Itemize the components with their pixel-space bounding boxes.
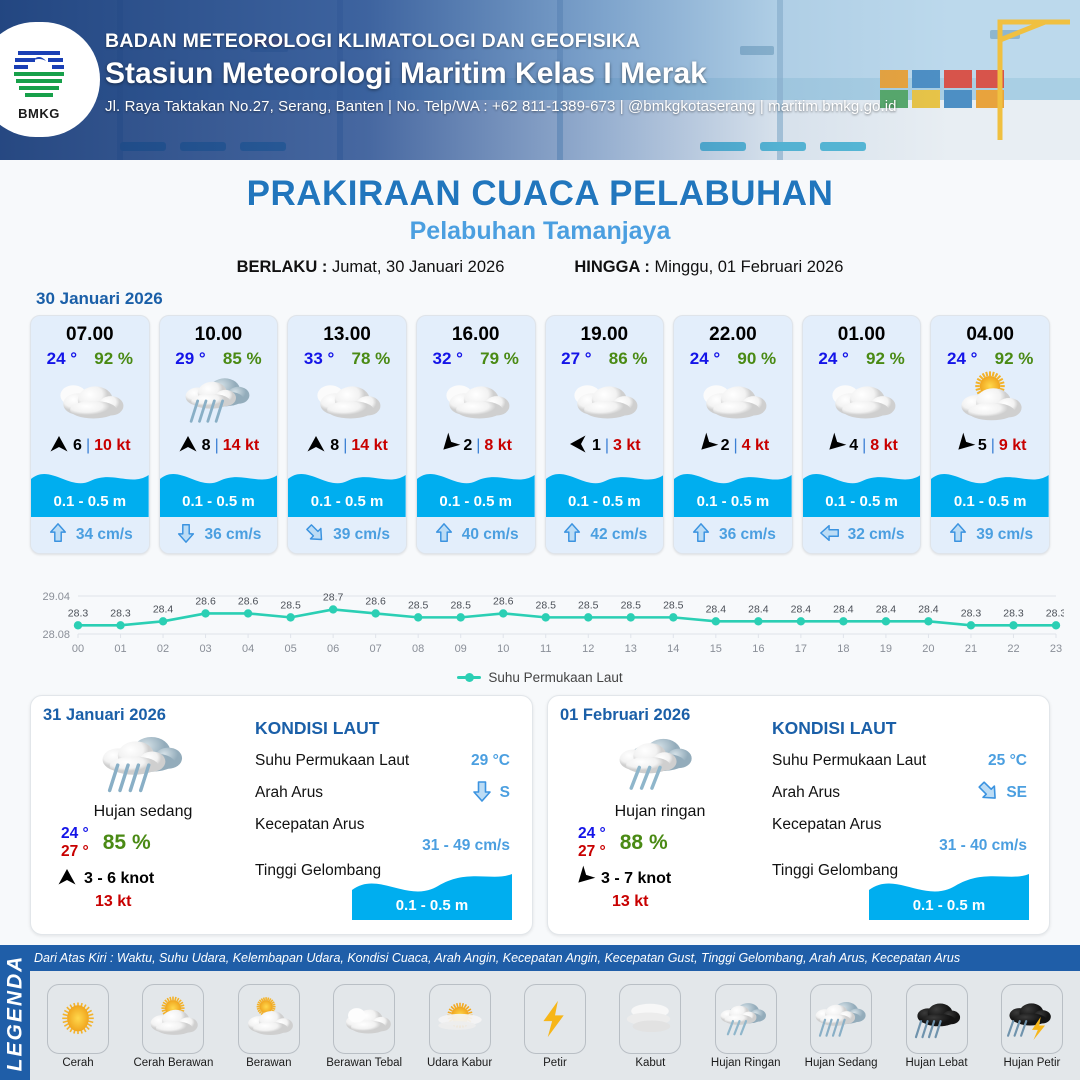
- daily-panel: 31 Januari 2026 Hujan sedang 24 °: [30, 695, 533, 935]
- sea-conditions-title: KONDISI LAUT: [772, 718, 1037, 739]
- svg-text:28.5: 28.5: [280, 599, 301, 611]
- card-current: 42 cm/s: [546, 517, 664, 553]
- daily-wind: 3 - 7 knot: [574, 867, 760, 892]
- legend-weather-icon: [333, 984, 395, 1054]
- svg-text:04: 04: [242, 643, 254, 655]
- sst-value: 25 °C: [988, 752, 1027, 770]
- page-subtitle: Pelabuhan Tamanjaya: [0, 217, 1080, 246]
- svg-text:07: 07: [370, 643, 382, 655]
- card-current: 36 cm/s: [160, 517, 278, 553]
- svg-text:28.3: 28.3: [961, 607, 982, 619]
- station-name: Stasiun Meteorologi Maritim Kelas I Mera…: [105, 57, 897, 91]
- wind-separator: |: [605, 437, 609, 455]
- daily-panel: 01 Februari 2026 Hujan ringan 24 °: [547, 695, 1050, 935]
- card-humidity: 90 %: [737, 349, 776, 369]
- legend-main: Dari Atas Kiri : Waktu, Suhu Udara, Kele…: [30, 945, 1080, 1080]
- current-direction-icon: [561, 522, 583, 549]
- current-direction-icon: [819, 522, 841, 549]
- card-time: 10.00: [160, 316, 278, 346]
- daily-date: 01 Februari 2026: [560, 706, 760, 725]
- svg-text:10: 10: [497, 643, 509, 655]
- legend-item-label: Berawan: [246, 1057, 291, 1069]
- page-title: PRAKIRAAN CUACA PELABUHAN: [0, 174, 1080, 214]
- card-wind-speed: 9 kt: [999, 437, 1027, 455]
- svg-text:22: 22: [1007, 643, 1019, 655]
- chart-legend: Suhu Permukaan Laut: [16, 670, 1064, 685]
- card-current-speed: 39 cm/s: [976, 526, 1033, 544]
- svg-text:14: 14: [667, 643, 679, 655]
- valid-to: HINGGA : Minggu, 01 Februari 2026: [574, 258, 843, 277]
- svg-text:28.4: 28.4: [833, 603, 854, 615]
- current-speed-value: 31 - 40 cm/s: [766, 837, 1037, 855]
- card-wave-height: 0.1 - 0.5 m: [931, 493, 1049, 510]
- card-wind-degree: 8: [202, 437, 211, 455]
- sst-chart-plot: 29.0428.0828.30028.30128.40228.60328.604…: [16, 568, 1064, 668]
- daily-wind: 3 - 6 knot: [57, 867, 243, 892]
- daily-wave-graphic: 0.1 - 0.5 m: [352, 864, 512, 920]
- contact-info: Jl. Raya Taktakan No.27, Serang, Banten …: [105, 98, 897, 115]
- hourly-card: 07.00 24 ° 92 % 6 | 10 kt: [30, 315, 150, 554]
- svg-text:21: 21: [965, 643, 977, 655]
- sea-conditions-title: KONDISI LAUT: [255, 718, 520, 739]
- card-wind-speed: 14 kt: [351, 437, 387, 455]
- current-dir-label: Arah Arus: [772, 784, 840, 802]
- valid-from-value: Jumat, 30 Januari 2026: [332, 258, 504, 276]
- legend-item: Kabut: [608, 984, 692, 1069]
- card-wind: 2 | 4 kt: [674, 431, 792, 461]
- card-weather-icon: [31, 369, 149, 431]
- card-weather-icon: [674, 369, 792, 431]
- card-wind-degree: 5: [978, 437, 987, 455]
- valid-to-label: HINGGA :: [574, 258, 649, 276]
- current-dir-row: Arah Arus S: [249, 777, 520, 809]
- daily-temps: 24 ° 27 ° 85 %: [61, 825, 243, 861]
- svg-text:28.7: 28.7: [323, 591, 344, 603]
- legend-item: Berawan: [227, 984, 311, 1069]
- card-current-speed: 34 cm/s: [76, 526, 133, 544]
- card-time: 01.00: [803, 316, 921, 346]
- svg-text:28.6: 28.6: [238, 595, 259, 607]
- card-temp-humidity: 33 ° 78 %: [288, 346, 406, 369]
- card-humidity: 92 %: [866, 349, 905, 369]
- sst-row: Suhu Permukaan Laut 29 °C: [249, 745, 520, 777]
- card-temperature: 24 °: [947, 349, 977, 369]
- card-humidity: 92 %: [94, 349, 133, 369]
- legend-item: Hujan Lebat: [895, 984, 979, 1069]
- svg-text:28.08: 28.08: [42, 629, 70, 641]
- daily-temp-col: 24 ° 27 °: [578, 825, 606, 861]
- card-wind: 8 | 14 kt: [160, 431, 278, 461]
- card-temp-humidity: 29 ° 85 %: [160, 346, 278, 369]
- card-wind-degree: 2: [463, 437, 472, 455]
- legend-weather-icon: [1001, 984, 1063, 1054]
- card-wave: 0.1 - 0.5 m: [674, 461, 792, 517]
- card-current: 32 cm/s: [803, 517, 921, 553]
- svg-text:12: 12: [582, 643, 594, 655]
- card-current: 40 cm/s: [417, 517, 535, 553]
- card-weather-icon: [546, 369, 664, 431]
- card-weather-icon: [417, 369, 535, 431]
- daily-temp-max: 27 °: [61, 843, 89, 861]
- hourly-card: 22.00 24 ° 90 % 2 | 4 kt: [673, 315, 793, 554]
- card-wave-height: 0.1 - 0.5 m: [803, 493, 921, 510]
- card-wind-degree: 1: [592, 437, 601, 455]
- card-wind-degree: 8: [330, 437, 339, 455]
- chart-legend-label: Suhu Permukaan Laut: [488, 670, 622, 685]
- chart-legend-marker-icon: [457, 676, 481, 679]
- svg-text:06: 06: [327, 643, 339, 655]
- wind-separator: |: [343, 437, 347, 455]
- sst-label: Suhu Permukaan Laut: [772, 752, 926, 770]
- daily-temp-col: 24 ° 27 °: [61, 825, 89, 861]
- svg-text:03: 03: [199, 643, 211, 655]
- daily-sea-conditions: KONDISI LAUT Suhu Permukaan Laut 25 °C A…: [760, 706, 1037, 924]
- hourly-date-label: 30 Januari 2026: [36, 289, 1080, 309]
- card-humidity: 86 %: [609, 349, 648, 369]
- card-wind-speed: 10 kt: [94, 437, 130, 455]
- current-dir-value-group: S: [470, 779, 510, 808]
- card-current: 39 cm/s: [288, 517, 406, 553]
- valid-to-value: Minggu, 01 Februari 2026: [654, 258, 843, 276]
- wind-direction-icon: [568, 434, 588, 459]
- card-wave-height: 0.1 - 0.5 m: [31, 493, 149, 510]
- page-header: BMKG BADAN METEOROLOGI KLIMATOLOGI DAN G…: [0, 0, 1080, 160]
- legend-item-label: Hujan Sedang: [805, 1057, 878, 1069]
- svg-text:28.4: 28.4: [706, 603, 727, 615]
- svg-text:09: 09: [455, 643, 467, 655]
- card-time: 19.00: [546, 316, 664, 346]
- legend-item: Udara Kabur: [418, 984, 502, 1069]
- daily-condition: Hujan ringan: [560, 803, 760, 821]
- svg-text:28.4: 28.4: [748, 603, 769, 615]
- legend-side-text: LEGENDA: [3, 954, 27, 1071]
- card-current: 36 cm/s: [674, 517, 792, 553]
- svg-text:28.5: 28.5: [536, 599, 557, 611]
- sst-label: Suhu Permukaan Laut: [255, 752, 409, 770]
- card-weather-icon: [803, 369, 921, 431]
- card-temp-humidity: 27 ° 86 %: [546, 346, 664, 369]
- wind-direction-icon: [954, 434, 974, 459]
- wind-direction-icon: [439, 434, 459, 459]
- wind-separator: |: [734, 437, 738, 455]
- legend-item: Hujan Sedang: [799, 984, 883, 1069]
- card-wind: 8 | 14 kt: [288, 431, 406, 461]
- legend-weather-icon: [47, 984, 109, 1054]
- card-wave: 0.1 - 0.5 m: [803, 461, 921, 517]
- card-current: 39 cm/s: [931, 517, 1049, 553]
- legend-item-label: Petir: [543, 1057, 567, 1069]
- daily-temp-min: 24 °: [578, 825, 606, 843]
- daily-gust: 13 kt: [612, 893, 760, 911]
- card-wind-speed: 4 kt: [742, 437, 770, 455]
- current-direction-icon: [690, 522, 712, 549]
- card-humidity: 79 %: [480, 349, 519, 369]
- card-time: 13.00: [288, 316, 406, 346]
- card-wave: 0.1 - 0.5 m: [31, 461, 149, 517]
- card-wind-degree: 4: [849, 437, 858, 455]
- svg-text:28.3: 28.3: [68, 607, 89, 619]
- hourly-card: 10.00 29 ° 85 % 8 | 1: [159, 315, 279, 554]
- legend-weather-icon: [810, 984, 872, 1054]
- legend-item: Hujan Petir: [990, 984, 1074, 1069]
- daily-condition: Hujan sedang: [43, 803, 243, 821]
- card-current-speed: 32 cm/s: [848, 526, 905, 544]
- card-time: 04.00: [931, 316, 1049, 346]
- agency-name: BADAN METEOROLOGI KLIMATOLOGI DAN GEOFIS…: [105, 30, 897, 53]
- legend-section: LEGENDA Dari Atas Kiri : Waktu, Suhu Uda…: [0, 945, 1080, 1080]
- daily-temp-min: 24 °: [61, 825, 89, 843]
- card-temperature: 27 °: [561, 349, 591, 369]
- current-speed-label: Kecepatan Arus: [255, 816, 364, 834]
- daily-forecast-panels: 31 Januari 2026 Hujan sedang 24 °: [0, 685, 1080, 935]
- svg-text:28.6: 28.6: [493, 595, 514, 607]
- wind-direction-icon: [825, 434, 845, 459]
- card-wind: 6 | 10 kt: [31, 431, 149, 461]
- legend-side-label: LEGENDA: [0, 945, 30, 1080]
- card-temperature: 24 °: [690, 349, 720, 369]
- svg-text:19: 19: [880, 643, 892, 655]
- card-wave: 0.1 - 0.5 m: [417, 461, 535, 517]
- current-dir-value: SE: [1006, 784, 1027, 802]
- svg-text:28.5: 28.5: [578, 599, 599, 611]
- daily-wave-graphic: 0.1 - 0.5 m: [869, 864, 1029, 920]
- svg-text:16: 16: [752, 643, 764, 655]
- legend-weather-icon: [524, 984, 586, 1054]
- card-temperature: 24 °: [818, 349, 848, 369]
- sst-row: Suhu Permukaan Laut 25 °C: [766, 745, 1037, 777]
- current-speed-value: 31 - 49 cm/s: [249, 837, 520, 855]
- svg-text:00: 00: [72, 643, 84, 655]
- svg-text:28.5: 28.5: [408, 599, 429, 611]
- wind-direction-icon: [49, 434, 69, 459]
- legend-weather-icon: [715, 984, 777, 1054]
- svg-text:28.4: 28.4: [153, 603, 174, 615]
- wind-direction-icon: [178, 434, 198, 459]
- hourly-forecast-cards: 07.00 24 ° 92 % 6 | 10 kt: [0, 315, 1080, 554]
- legend-items: Cerah Cerah Berawan: [30, 971, 1080, 1080]
- current-direction-icon: [47, 522, 69, 549]
- daily-current-direction-icon: [470, 779, 494, 808]
- daily-temps: 24 ° 27 ° 88 %: [578, 825, 760, 861]
- legend-weather-icon: [906, 984, 968, 1054]
- card-time: 07.00: [31, 316, 149, 346]
- card-current-speed: 39 cm/s: [333, 526, 390, 544]
- wind-direction-icon: [697, 434, 717, 459]
- card-wave-height: 0.1 - 0.5 m: [417, 493, 535, 510]
- hourly-card: 13.00 33 ° 78 % 8 | 14 kt: [287, 315, 407, 554]
- svg-text:28.5: 28.5: [663, 599, 684, 611]
- daily-wave-value: 0.1 - 0.5 m: [352, 897, 512, 914]
- svg-text:28.3: 28.3: [1046, 607, 1064, 619]
- legend-item-label: Hujan Ringan: [711, 1057, 781, 1069]
- svg-text:28.5: 28.5: [621, 599, 642, 611]
- current-direction-icon: [433, 522, 455, 549]
- card-time: 16.00: [417, 316, 535, 346]
- current-direction-icon: [947, 522, 969, 549]
- svg-text:28.4: 28.4: [918, 603, 939, 615]
- card-current-speed: 40 cm/s: [462, 526, 519, 544]
- card-temperature: 29 °: [175, 349, 205, 369]
- svg-text:28.4: 28.4: [876, 603, 897, 615]
- card-temp-humidity: 24 ° 92 %: [31, 346, 149, 369]
- header-text-block: BADAN METEOROLOGI KLIMATOLOGI DAN GEOFIS…: [105, 30, 897, 115]
- daily-left: 31 Januari 2026 Hujan sedang 24 °: [43, 706, 243, 924]
- legend-item-label: Cerah Berawan: [133, 1057, 213, 1069]
- svg-text:08: 08: [412, 643, 424, 655]
- card-wave: 0.1 - 0.5 m: [546, 461, 664, 517]
- card-wind-speed: 8 kt: [870, 437, 898, 455]
- card-wave: 0.1 - 0.5 m: [288, 461, 406, 517]
- card-wind-speed: 3 kt: [613, 437, 641, 455]
- svg-text:05: 05: [284, 643, 296, 655]
- card-temp-humidity: 24 ° 92 %: [931, 346, 1049, 369]
- legend-item: Cerah: [36, 984, 120, 1069]
- daily-wind-range: 3 - 6 knot: [84, 870, 154, 888]
- legend-item-label: Cerah: [62, 1057, 93, 1069]
- title-section: PRAKIRAAN CUACA PELABUHAN Pelabuhan Tama…: [0, 160, 1080, 277]
- card-wind: 4 | 8 kt: [803, 431, 921, 461]
- daily-date: 31 Januari 2026: [43, 706, 243, 725]
- legend-item: Berawan Tebal: [322, 984, 406, 1069]
- sst-value: 29 °C: [471, 752, 510, 770]
- bmkg-logo-icon: [8, 39, 70, 105]
- legend-weather-icon: [142, 984, 204, 1054]
- card-current-speed: 36 cm/s: [204, 526, 261, 544]
- daily-current-direction-icon: [976, 779, 1000, 808]
- svg-text:11: 11: [540, 643, 551, 655]
- card-current: 34 cm/s: [31, 517, 149, 553]
- legend-weather-icon: [238, 984, 300, 1054]
- svg-text:23: 23: [1050, 643, 1062, 655]
- wind-separator: |: [862, 437, 866, 455]
- hourly-card: 01.00 24 ° 92 % 4 | 8 kt: [802, 315, 922, 554]
- valid-from: BERLAKU : Jumat, 30 Januari 2026: [237, 258, 505, 277]
- card-current-speed: 42 cm/s: [590, 526, 647, 544]
- card-temp-humidity: 24 ° 92 %: [803, 346, 921, 369]
- svg-text:20: 20: [922, 643, 934, 655]
- hourly-card: 19.00 27 ° 86 % 1 | 3 kt: [545, 315, 665, 554]
- current-dir-row: Arah Arus SE: [766, 777, 1037, 809]
- hourly-card: 04.00 24 ° 92 % 5 | 9 kt: [930, 315, 1050, 554]
- svg-text:15: 15: [710, 643, 722, 655]
- hourly-card: 16.00 32 ° 79 % 2 | 8 kt: [416, 315, 536, 554]
- wind-separator: |: [86, 437, 90, 455]
- bmkg-logo-text: BMKG: [18, 106, 60, 121]
- wind-separator: |: [476, 437, 480, 455]
- card-wave: 0.1 - 0.5 m: [931, 461, 1049, 517]
- card-weather-icon: [288, 369, 406, 431]
- daily-weather-icon: [43, 727, 243, 801]
- legend-item: Hujan Ringan: [704, 984, 788, 1069]
- daily-wind-direction-icon: [57, 867, 77, 892]
- card-wind-degree: 2: [721, 437, 730, 455]
- card-temperature: 33 °: [304, 349, 334, 369]
- wind-direction-icon: [306, 434, 326, 459]
- card-wind: 1 | 3 kt: [546, 431, 664, 461]
- wind-separator: |: [991, 437, 995, 455]
- legend-item-label: Kabut: [635, 1057, 665, 1069]
- svg-text:17: 17: [795, 643, 807, 655]
- card-time: 22.00: [674, 316, 792, 346]
- card-wind-speed: 8 kt: [484, 437, 512, 455]
- svg-text:02: 02: [157, 643, 169, 655]
- card-wind-speed: 14 kt: [223, 437, 259, 455]
- legend-weather-icon: [429, 984, 491, 1054]
- current-dir-value-group: SE: [976, 779, 1027, 808]
- valid-from-label: BERLAKU :: [237, 258, 328, 276]
- legend-note: Dari Atas Kiri : Waktu, Suhu Udara, Kele…: [30, 945, 1080, 971]
- legend-item-label: Hujan Petir: [1003, 1057, 1060, 1069]
- card-temp-humidity: 24 ° 90 %: [674, 346, 792, 369]
- card-humidity: 85 %: [223, 349, 262, 369]
- current-dir-value: S: [500, 784, 510, 802]
- validity-row: BERLAKU : Jumat, 30 Januari 2026 HINGGA …: [0, 258, 1080, 277]
- current-speed-label: Kecepatan Arus: [772, 816, 881, 834]
- card-wave: 0.1 - 0.5 m: [160, 461, 278, 517]
- daily-sea-conditions: KONDISI LAUT Suhu Permukaan Laut 29 °C A…: [243, 706, 520, 924]
- svg-text:28.5: 28.5: [450, 599, 471, 611]
- svg-text:28.6: 28.6: [365, 595, 386, 607]
- svg-text:28.4: 28.4: [791, 603, 812, 615]
- svg-text:28.3: 28.3: [110, 607, 131, 619]
- daily-wind-direction-icon: [574, 867, 594, 892]
- card-wave-height: 0.1 - 0.5 m: [288, 493, 406, 510]
- card-wave-height: 0.1 - 0.5 m: [674, 493, 792, 510]
- legend-item: Cerah Berawan: [131, 984, 215, 1069]
- sst-chart: 29.0428.0828.30028.30128.40228.60328.604…: [0, 568, 1080, 685]
- legend-weather-icon: [619, 984, 681, 1054]
- card-wave-height: 0.1 - 0.5 m: [546, 493, 664, 510]
- daily-gust: 13 kt: [95, 893, 243, 911]
- card-humidity: 78 %: [352, 349, 391, 369]
- card-weather-icon: [160, 369, 278, 431]
- card-temp-humidity: 32 ° 79 %: [417, 346, 535, 369]
- card-weather-icon: [931, 369, 1049, 431]
- svg-text:18: 18: [837, 643, 849, 655]
- daily-temp-max: 27 °: [578, 843, 606, 861]
- legend-item-label: Udara Kabur: [427, 1057, 492, 1069]
- daily-wave-value: 0.1 - 0.5 m: [869, 897, 1029, 914]
- current-dir-label: Arah Arus: [255, 784, 323, 802]
- current-direction-icon: [304, 522, 326, 549]
- card-wave-height: 0.1 - 0.5 m: [160, 493, 278, 510]
- card-temperature: 32 °: [432, 349, 462, 369]
- svg-text:01: 01: [114, 643, 126, 655]
- card-wind: 2 | 8 kt: [417, 431, 535, 461]
- svg-text:28.3: 28.3: [1003, 607, 1024, 619]
- legend-item-label: Hujan Lebat: [906, 1057, 968, 1069]
- svg-text:28.6: 28.6: [195, 595, 216, 607]
- card-humidity: 92 %: [995, 349, 1034, 369]
- daily-left: 01 Februari 2026 Hujan ringan 24 °: [560, 706, 760, 924]
- card-wind-degree: 6: [73, 437, 82, 455]
- svg-text:29.04: 29.04: [42, 591, 70, 603]
- card-current-speed: 36 cm/s: [719, 526, 776, 544]
- svg-text:13: 13: [625, 643, 637, 655]
- legend-item-label: Berawan Tebal: [326, 1057, 402, 1069]
- legend-item: Petir: [513, 984, 597, 1069]
- daily-wind-range: 3 - 7 knot: [601, 870, 671, 888]
- wind-separator: |: [215, 437, 219, 455]
- card-wind: 5 | 9 kt: [931, 431, 1049, 461]
- daily-humidity: 85 %: [103, 831, 151, 855]
- current-direction-icon: [175, 522, 197, 549]
- card-temperature: 24 °: [47, 349, 77, 369]
- daily-weather-icon: [560, 727, 760, 801]
- daily-humidity: 88 %: [620, 831, 668, 855]
